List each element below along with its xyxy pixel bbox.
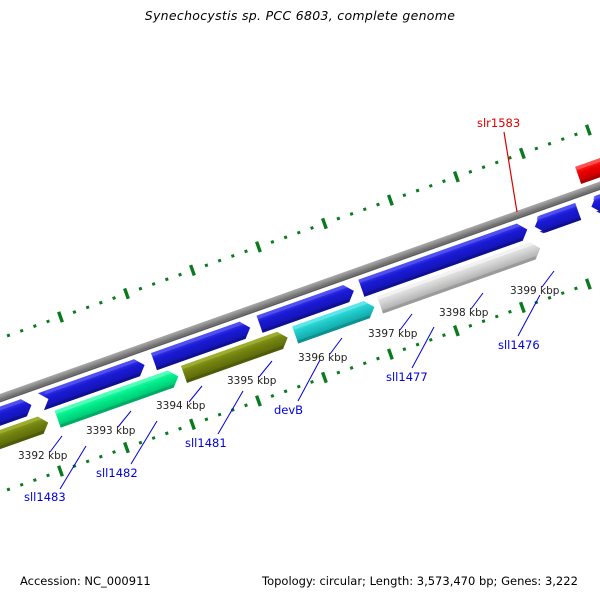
gene-leader-line-slr1583 [504,132,517,212]
reverse-strand-genes[interactable] [0,240,543,457]
ruler-tick-label: 3394 kbp [156,400,205,412]
accession-text: Accession: NC_000911 [20,574,151,588]
gene-label-sll1476[interactable]: sll1476 [498,338,540,352]
ruler-tick-label: 3396 kbp [298,352,347,364]
ruler-tick-label: 3398 kbp [439,307,488,319]
ruler-tick-label: 3397 kbp [368,328,417,340]
ruler-tick-label: 3393 kbp [86,425,135,437]
genome-diagram-canvas[interactable] [0,0,600,600]
topology-text: Topology: circular; Length: 3,573,470 bp… [262,574,578,588]
gene-label-sll1481[interactable]: sll1481 [185,436,227,450]
forward-strand-genes[interactable] [0,114,600,437]
ruler-tick-label: 3392 kbp [18,450,67,462]
footer: Accession: NC_000911 Topology: circular;… [0,574,600,594]
gene-label-sll1482[interactable]: sll1482 [96,466,138,480]
ruler-tick-label: 3395 kbp [227,375,276,387]
gene-label-sll1477[interactable]: sll1477 [386,370,428,384]
gene-label-devB[interactable]: devB [274,403,303,417]
genome-viewer: Synechocystis sp. PCC 6803, complete gen… [0,0,600,600]
gene-label-sll1483[interactable]: sll1483 [24,490,66,504]
ruler-tick-label: 3399 kbp [510,285,559,297]
gene-arrow[interactable] [575,148,600,184]
gene-label-slr1583[interactable]: slr1583 [477,116,520,130]
